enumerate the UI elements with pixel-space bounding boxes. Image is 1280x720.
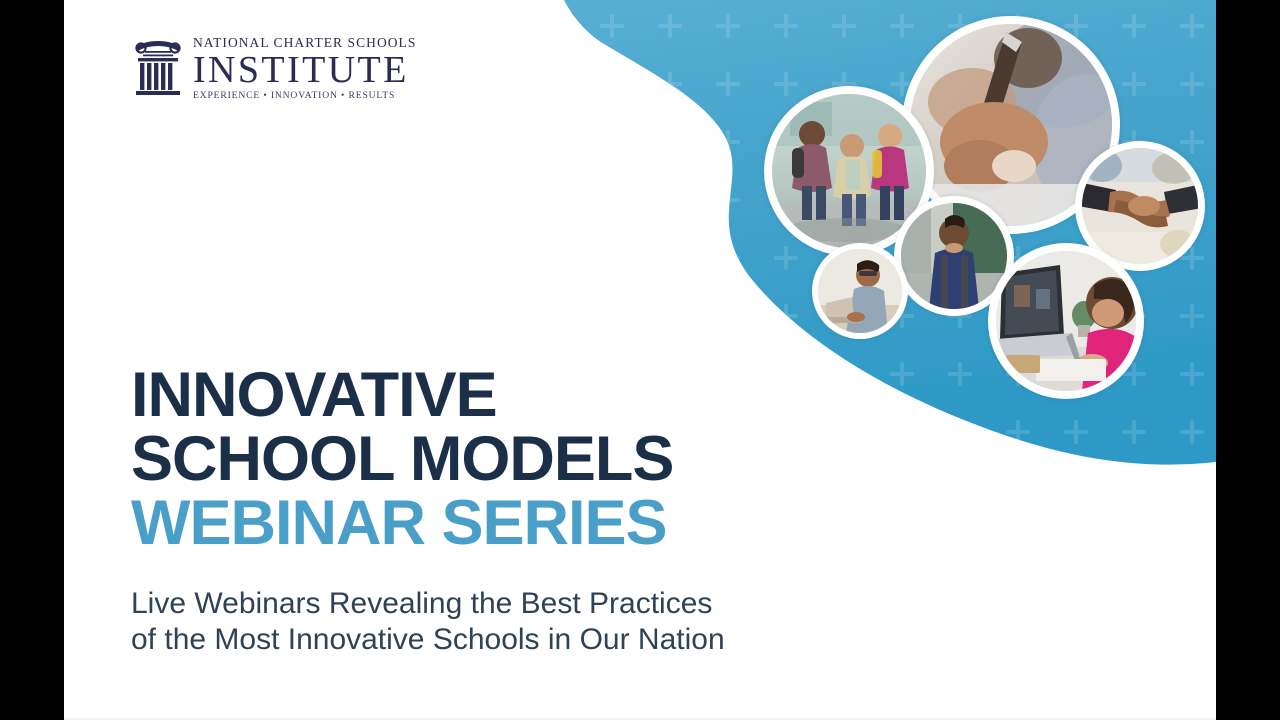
photo-circle-girl-tablet	[988, 243, 1144, 399]
photo-art-teacher-laptop	[818, 249, 902, 333]
letterbox-right	[1216, 0, 1280, 720]
subtitle-line-2: of the Most Innovative Schools in Our Na…	[131, 622, 891, 658]
headline-line-3: WEBINAR SERIES	[131, 491, 851, 555]
photo-circle-teacher-laptop	[812, 243, 908, 339]
headline-line-1: INNOVATIVE	[131, 363, 851, 427]
logo-line-institute: INSTITUTE	[193, 51, 416, 90]
logo-tagline: EXPERIENCE • INNOVATION • RESULTS	[193, 91, 416, 101]
video-stage: NATIONAL CHARTER SCHOOLS INSTITUTE EXPER…	[0, 0, 1280, 720]
brand-logo[interactable]: NATIONAL CHARTER SCHOOLS INSTITUTE EXPER…	[132, 36, 416, 101]
photo-art-student-backpack	[901, 203, 1007, 309]
photo-art-girl-tablet	[996, 251, 1136, 391]
letterbox-left	[0, 0, 64, 720]
photo-art-handshake	[1082, 148, 1198, 264]
logo-line-national-charter-schools: NATIONAL CHARTER SCHOOLS	[193, 36, 416, 50]
ionic-column-icon	[132, 39, 184, 97]
subtitle-line-1: Live Webinars Revealing the Best Practic…	[131, 586, 891, 622]
presentation-slide: NATIONAL CHARTER SCHOOLS INSTITUTE EXPER…	[64, 0, 1216, 720]
page-subtitle: Live Webinars Revealing the Best Practic…	[131, 586, 891, 658]
headline-line-2: SCHOOL MODELS	[131, 427, 851, 491]
page-title: INNOVATIVE SCHOOL MODELS WEBINAR SERIES	[131, 363, 851, 555]
